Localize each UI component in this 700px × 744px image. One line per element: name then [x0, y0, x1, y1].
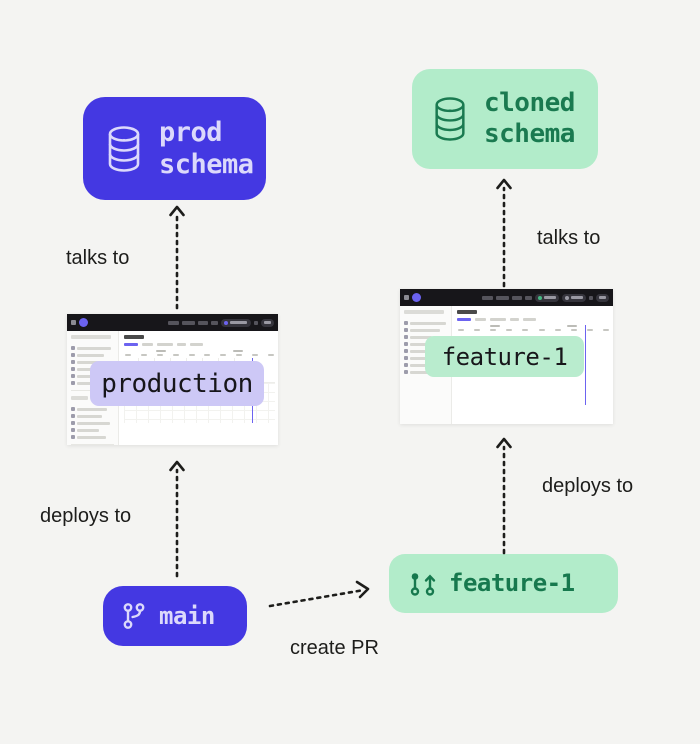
item-icon	[71, 346, 75, 350]
item-icon	[71, 428, 75, 432]
node-feature-branch-label: feature-1	[449, 569, 575, 597]
topbar-avatar	[261, 319, 274, 327]
chart-group-headers	[457, 325, 610, 327]
arrow-create-pr	[268, 578, 378, 610]
sidebar-item	[71, 353, 114, 357]
sidebar-item	[71, 421, 114, 425]
edge-label-talks-to-left: talks to	[66, 247, 129, 270]
sidebar-project-picker	[71, 335, 111, 339]
branch-dot-icon	[565, 296, 569, 300]
arrow-talks-to-left	[167, 203, 187, 308]
item-icon	[71, 407, 75, 411]
node-cloned-schema-label: cloned schema	[484, 88, 575, 149]
env-dot-icon	[224, 321, 228, 325]
item-icon	[404, 349, 408, 353]
mock-tab	[124, 343, 138, 346]
mock-tab	[177, 343, 186, 346]
node-feature-branch[interactable]: feature-1	[389, 554, 618, 613]
topbar-item	[496, 296, 509, 300]
edge-label-deploys-to-right: deploys to	[542, 475, 633, 498]
sidebar-item	[404, 321, 447, 325]
chart-group-headers	[124, 350, 275, 352]
edge-label-talks-to-right: talks to	[537, 227, 600, 250]
git-pull-request-icon	[409, 570, 437, 598]
item-icon	[71, 414, 75, 418]
item-icon	[71, 421, 75, 425]
chart-axis-ticks	[124, 354, 275, 356]
node-cloned-schema[interactable]: cloned schema	[412, 69, 598, 169]
mock-topbar	[400, 289, 613, 306]
topbar-item	[182, 321, 195, 325]
mock-page-title	[124, 335, 144, 339]
item-icon	[71, 360, 75, 364]
env-label-production: production	[90, 361, 264, 406]
database-icon	[103, 125, 145, 173]
sidebar-item	[404, 328, 447, 332]
item-icon	[404, 363, 408, 367]
menu-icon	[71, 320, 76, 325]
sidebar-item	[71, 407, 114, 411]
node-main-branch[interactable]: main	[103, 586, 247, 646]
sidebar-divider	[71, 444, 114, 445]
git-branch-icon	[121, 602, 147, 630]
database-icon	[430, 96, 470, 142]
edge-label-create-pr: create PR	[290, 637, 379, 660]
item-icon	[404, 321, 408, 325]
topbar-env-pill	[535, 294, 559, 302]
mock-tab	[475, 318, 486, 321]
mock-tab	[510, 318, 519, 321]
mock-page-title	[457, 310, 477, 314]
arrow-deploys-to-right	[494, 435, 514, 553]
item-icon	[71, 353, 75, 357]
item-icon	[404, 335, 408, 339]
mock-tab	[190, 343, 203, 346]
node-main-branch-label: main	[159, 602, 215, 630]
app-logo-icon	[79, 318, 88, 327]
topbar-item	[525, 296, 532, 300]
sidebar-item	[71, 435, 114, 439]
item-icon	[71, 367, 75, 371]
mock-tab	[523, 318, 536, 321]
item-icon	[404, 342, 408, 346]
mock-tab	[457, 318, 471, 321]
chart-axis-ticks	[457, 329, 610, 331]
item-icon	[71, 381, 75, 385]
topbar-item	[198, 321, 208, 325]
sidebar-item	[71, 428, 114, 432]
sidebar-project-picker	[404, 310, 444, 314]
mock-topbar	[67, 314, 278, 331]
topbar-item	[482, 296, 493, 300]
mock-tabs	[457, 318, 610, 321]
diagram-canvas: prod schema cloned schema	[0, 0, 700, 744]
arrow-deploys-to-left	[167, 458, 187, 576]
topbar-avatar	[596, 294, 609, 302]
env-label-feature: feature-1	[425, 336, 584, 377]
mock-tab	[157, 343, 173, 346]
topbar-env-pill	[221, 319, 251, 327]
topbar-item	[512, 296, 522, 300]
item-icon	[404, 370, 408, 374]
item-icon	[71, 374, 75, 378]
topbar-item	[254, 321, 258, 325]
topbar-branch-pill	[562, 294, 586, 302]
mock-tab	[142, 343, 153, 346]
mock-tabs	[124, 343, 275, 346]
edge-label-deploys-to-left: deploys to	[40, 505, 131, 528]
arrow-talks-to-right	[494, 176, 514, 286]
topbar-item	[589, 296, 593, 300]
item-icon	[71, 435, 75, 439]
env-dot-icon	[538, 296, 542, 300]
topbar-item	[168, 321, 179, 325]
menu-icon	[404, 295, 409, 300]
item-icon	[404, 356, 408, 360]
item-icon	[404, 328, 408, 332]
node-prod-schema[interactable]: prod schema	[83, 97, 266, 200]
app-logo-icon	[412, 293, 421, 302]
sidebar-item	[71, 414, 114, 418]
sidebar-section-title	[71, 396, 88, 400]
node-prod-schema-label: prod schema	[159, 117, 254, 181]
topbar-item	[211, 321, 218, 325]
mock-tab	[490, 318, 506, 321]
sidebar-item	[71, 346, 114, 350]
